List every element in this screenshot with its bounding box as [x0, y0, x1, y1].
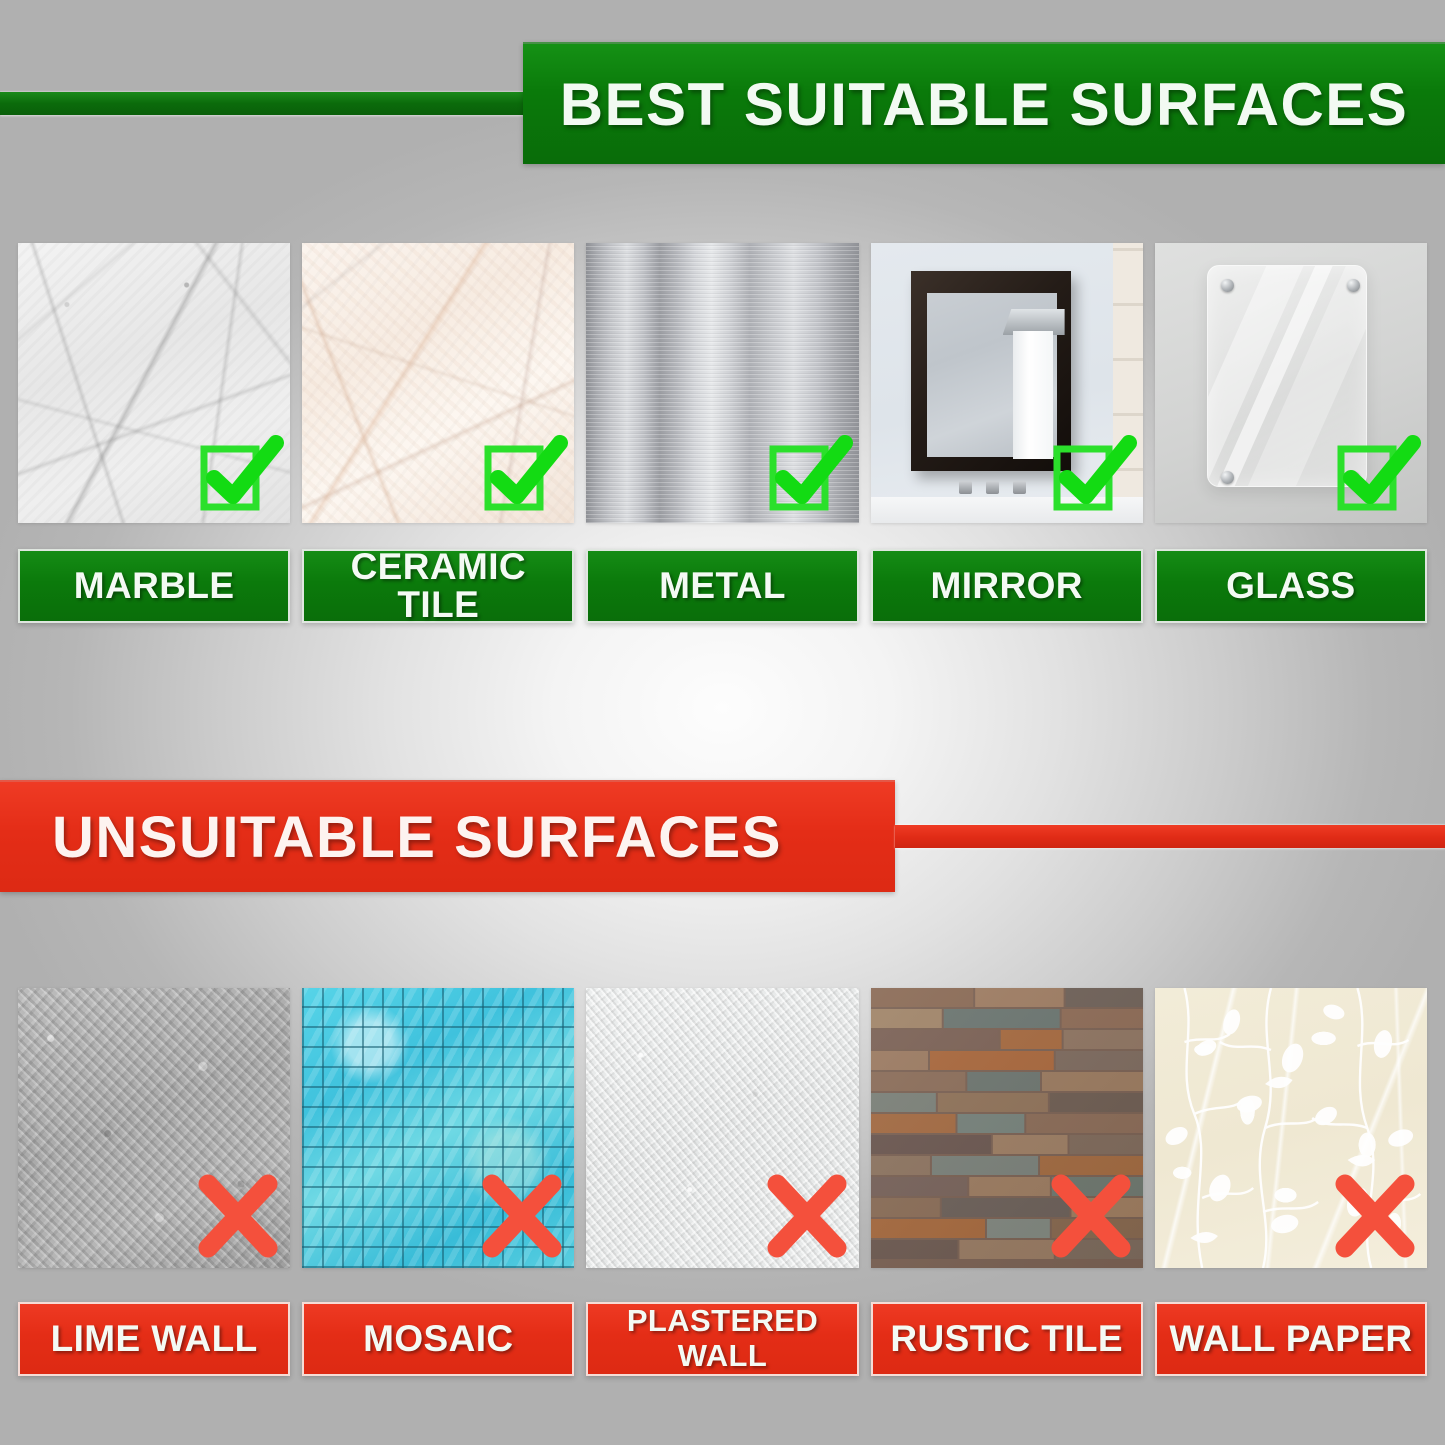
check-icon	[192, 425, 284, 517]
best-suitable-banner-row: BEST SUITABLE SURFACES	[0, 42, 1445, 164]
surface-label-plastered-wall: PLASTERED WALL	[586, 1302, 858, 1376]
surface-label-rustic-tile: RUSTIC TILE	[871, 1302, 1143, 1376]
best-suitable-tile-row	[18, 243, 1427, 523]
unsuitable-label-row: LIME WALL MOSAIC PLASTERED WALL RUSTIC T…	[18, 1302, 1427, 1376]
check-icon	[761, 425, 853, 517]
surface-label-glass: GLASS	[1155, 549, 1427, 623]
best-suitable-title: BEST SUITABLE SURFACES	[560, 70, 1409, 139]
surface-compatibility-infographic: BEST SUITABLE SURFACES	[0, 0, 1445, 1445]
surface-tile-lime-wall	[18, 988, 290, 1268]
surface-tile-wall-paper	[1155, 988, 1427, 1268]
glass-standoff-stud	[1347, 279, 1360, 292]
unsuitable-title: UNSUITABLE SURFACES	[52, 804, 782, 871]
unsuitable-banner-row: UNSUITABLE SURFACES	[0, 780, 1445, 892]
surface-label-text: CERAMIC TILE	[310, 548, 566, 623]
surface-label-metal: METAL	[586, 549, 858, 623]
countertop	[871, 497, 1143, 523]
surface-tile-plastered-wall	[586, 988, 858, 1268]
best-suitable-banner: BEST SUITABLE SURFACES	[523, 42, 1445, 164]
surface-tile-marble	[18, 243, 290, 523]
glass-standoff-stud	[1221, 279, 1234, 292]
glass-standoff-stud	[1221, 471, 1234, 484]
faucet-handles	[959, 481, 1040, 499]
glass-standoff-stud	[1347, 471, 1360, 484]
green-banner-connector-line	[0, 92, 523, 115]
surface-tile-mirror	[871, 243, 1143, 523]
cross-icon	[761, 1170, 853, 1262]
surface-label-text: METAL	[659, 567, 786, 605]
surface-label-mirror: MIRROR	[871, 549, 1143, 623]
red-banner-connector-line	[895, 825, 1445, 848]
surface-label-text: PLASTERED WALL	[627, 1304, 818, 1373]
surface-tile-metal	[586, 243, 858, 523]
surface-label-text: MARBLE	[74, 567, 235, 605]
surface-tile-glass	[1155, 243, 1427, 523]
cross-icon	[192, 1170, 284, 1262]
surface-tile-mosaic	[302, 988, 574, 1268]
best-suitable-label-row: MARBLE CERAMIC TILE METAL MIRROR GLASS	[18, 549, 1427, 623]
surface-tile-rustic-tile	[871, 988, 1143, 1268]
surface-label-lime-wall: LIME WALL	[18, 1302, 290, 1376]
surface-label-text: RUSTIC TILE	[890, 1320, 1123, 1358]
unsuitable-banner: UNSUITABLE SURFACES	[0, 780, 895, 892]
unsuitable-tile-row	[18, 988, 1427, 1268]
cross-icon	[476, 1170, 568, 1262]
surface-label-wall-paper: WALL PAPER	[1155, 1302, 1427, 1376]
surface-label-text: MOSAIC	[363, 1320, 513, 1358]
rustic-stone-pattern	[871, 988, 1143, 1268]
check-icon	[476, 425, 568, 517]
mirror-reflection-column	[1013, 331, 1053, 459]
glass-panel	[1207, 265, 1367, 487]
surface-tile-ceramic	[302, 243, 574, 523]
surface-label-text: MIRROR	[930, 567, 1082, 605]
surface-label-text: GLASS	[1226, 567, 1355, 605]
surface-label-text: WALL PAPER	[1169, 1320, 1412, 1358]
surface-label-mosaic: MOSAIC	[302, 1302, 574, 1376]
surface-label-marble: MARBLE	[18, 549, 290, 623]
bathroom-wall-tile-strip	[1113, 243, 1143, 523]
surface-label-text: LIME WALL	[51, 1320, 258, 1358]
floral-wallpaper-pattern	[1155, 988, 1427, 1268]
surface-label-ceramic-tile: CERAMIC TILE	[302, 549, 574, 623]
